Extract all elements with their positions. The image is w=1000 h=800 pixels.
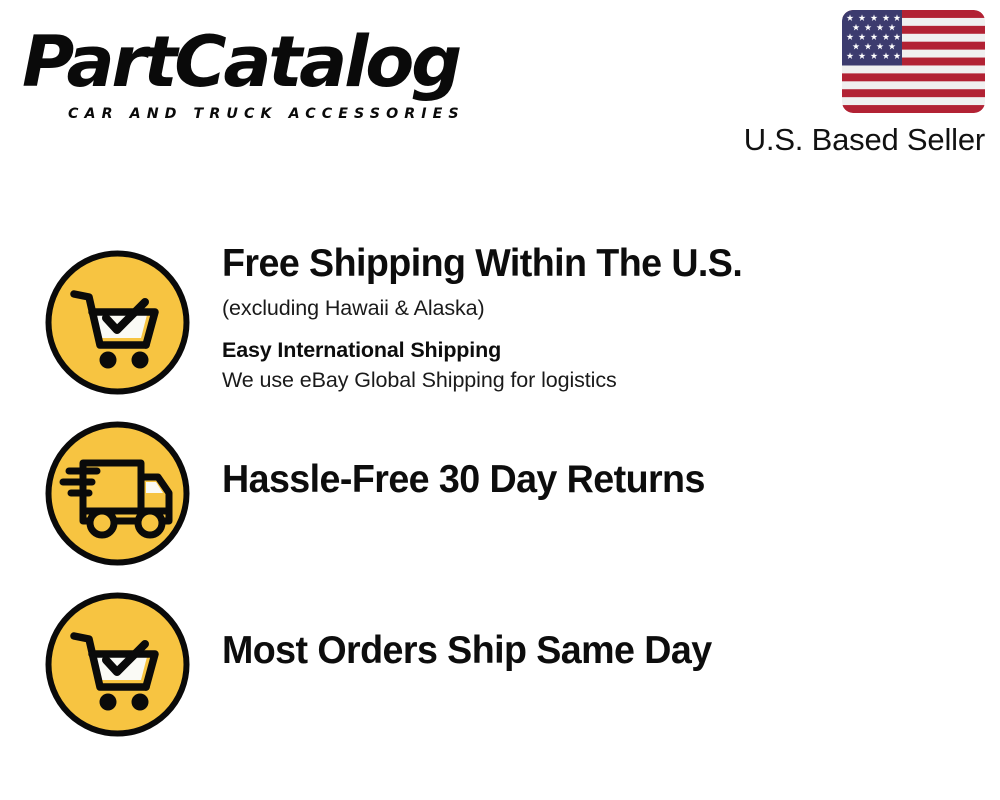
feature-text-returns: Hassle-Free 30 Day Returns — [222, 455, 962, 505]
feature-row-free-shipping: Free Shipping Within The U.S. (excluding… — [0, 236, 1000, 407]
brand-wordmark: PartCatalog — [22, 18, 459, 106]
us-flag-icon — [842, 10, 985, 113]
brand-logo: PartCatalog CAR AND TRUCK ACCESSORIES — [22, 18, 522, 123]
feature-heading: Free Shipping Within The U.S. — [222, 239, 936, 289]
brand-tagline: CAR AND TRUCK ACCESSORIES — [68, 106, 465, 122]
seller-badge-label: U.S. Based Seller — [715, 121, 985, 159]
feature-text-same-day: Most Orders Ship Same Day — [222, 626, 962, 676]
feature-subtext-exclusions: (excluding Hawaii & Alaska) — [222, 293, 962, 323]
feature-subtext-international-detail: We use eBay Global Shipping for logistic… — [222, 365, 962, 395]
feature-subtext-international-title: Easy International Shipping — [222, 335, 962, 365]
delivery-truck-icon — [45, 421, 190, 566]
feature-row-returns: Hassle-Free 30 Day Returns — [0, 407, 1000, 578]
shopping-cart-check-icon — [45, 592, 190, 737]
feature-row-same-day-shipping: Most Orders Ship Same Day — [0, 578, 1000, 749]
us-based-seller-badge: U.S. Based Seller — [715, 10, 985, 159]
shopping-cart-check-icon — [45, 250, 190, 395]
feature-heading: Hassle-Free 30 Day Returns — [222, 455, 936, 505]
feature-list: Free Shipping Within The U.S. (excluding… — [0, 236, 1000, 749]
feature-text-free-shipping: Free Shipping Within The U.S. (excluding… — [222, 239, 962, 395]
feature-heading: Most Orders Ship Same Day — [222, 626, 936, 676]
